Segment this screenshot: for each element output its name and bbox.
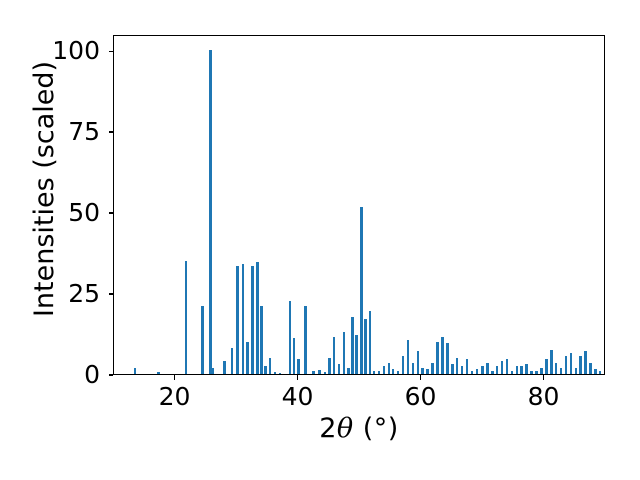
bar [355,335,358,374]
bar [223,361,226,374]
bar [338,364,341,374]
plot-area [113,35,605,375]
bar [446,343,449,374]
bar [491,371,494,374]
bar [550,350,553,374]
bar [506,359,509,374]
bar [251,266,254,374]
bar [397,371,400,374]
bar [157,372,160,374]
bar [378,371,381,374]
bar [545,359,548,374]
bar [555,363,558,374]
x-axis-label-text: 2θ (°) [319,413,399,444]
bar [471,371,474,374]
bar [407,340,410,374]
bar [360,207,363,374]
bar [426,369,429,374]
bar [256,262,259,374]
x-axis-label: 2θ (°) [113,413,605,444]
bar [388,363,391,374]
bar [297,359,300,374]
bar [373,371,376,374]
bar [441,337,444,374]
bar [456,358,459,374]
bar [579,356,582,374]
bar [486,363,489,374]
x-axis-label-prefix: 2 [319,413,337,444]
bar [560,368,563,374]
bar [269,358,272,374]
x-tick-label: 20 [145,382,205,412]
bar [451,364,454,374]
y-tick-label: 100 [0,36,100,66]
x-tick-mark [174,375,175,380]
bar [328,358,331,374]
x-tick-mark [297,375,298,380]
bar [293,338,296,374]
bar [461,366,464,374]
bar [264,366,267,374]
bar [516,366,519,374]
bar [351,317,354,374]
bar [530,371,533,374]
theta-symbol: θ [337,413,354,444]
bar [431,363,434,374]
x-tick-label: 60 [391,382,451,412]
bar [274,372,277,374]
x-tick-label: 40 [268,382,328,412]
bar [236,266,239,374]
bar [304,306,307,374]
bar [476,369,479,374]
bar [511,371,514,374]
y-tick-label: 75 [0,117,100,147]
bar [575,368,578,374]
bar [570,353,573,374]
bar [333,337,336,374]
y-tick-label: 25 [0,279,100,309]
bar [466,359,469,374]
bar [584,351,587,374]
y-tick-label: 50 [0,198,100,228]
bar [540,368,543,374]
bar [520,366,523,374]
bar [231,348,234,374]
xrd-pattern-figure: Intensities (scaled) 0255075100 20406080… [0,0,640,480]
x-tick-label: 80 [514,382,574,412]
bar [209,50,212,374]
bar [481,366,484,374]
bar [312,371,315,374]
bar [565,356,568,374]
bar [525,364,528,374]
bar [134,368,137,374]
bar [246,342,249,374]
bar [417,351,420,374]
bar [343,332,346,374]
bar [185,261,188,374]
bar [242,264,245,374]
x-tick-mark [543,375,544,380]
bar [594,369,597,374]
bar [318,370,321,374]
bar [260,306,263,374]
bar [383,366,386,374]
bar [589,363,592,374]
bar [201,306,204,374]
bar [279,373,282,374]
bar [535,371,538,374]
bar [324,372,327,374]
x-axis-label-units: (°) [363,413,399,444]
bar [412,363,415,374]
y-tick-label: 0 [0,360,100,390]
bar [212,368,215,374]
bar [369,311,372,374]
bar [347,368,350,374]
x-tick-mark [420,375,421,380]
bar [289,301,292,374]
bar [402,356,405,374]
bar [364,319,367,374]
bar [421,368,424,374]
bar [496,366,499,374]
bar [436,342,439,374]
bar-series-diffraction-peaks [114,36,604,374]
bar [599,371,602,374]
bar [392,369,395,374]
bar [501,361,504,374]
